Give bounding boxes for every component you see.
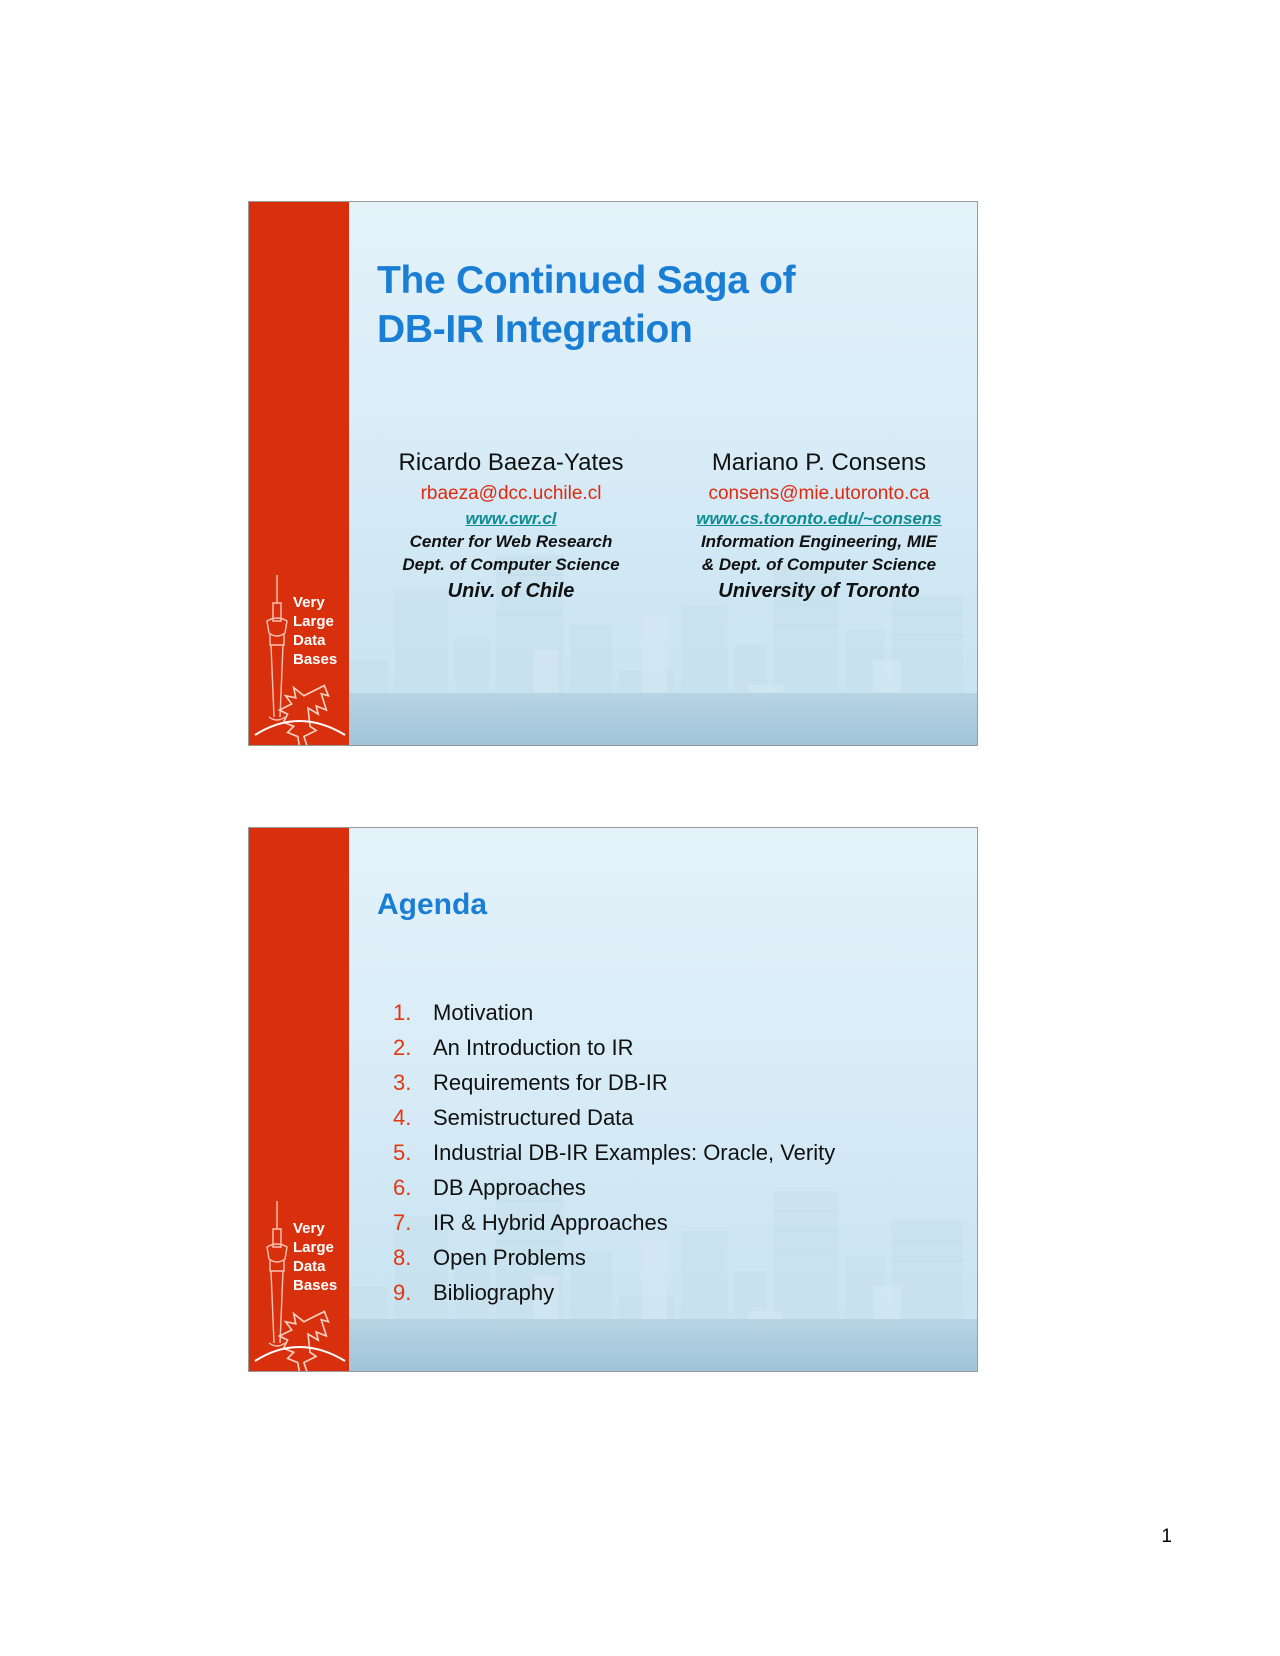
logo-line-2: Large bbox=[293, 1239, 334, 1256]
title-line-1: The Continued Saga of bbox=[377, 257, 937, 306]
vldb-logo: Very Large Data Bases bbox=[249, 557, 349, 746]
slide-agenda: Very Large Data Bases Agenda 1. Motivati… bbox=[248, 827, 978, 1372]
list-item-label: Motivation bbox=[433, 1000, 533, 1026]
list-item[interactable]: 2. An Introduction to IR bbox=[393, 1035, 835, 1061]
list-item-label: Open Problems bbox=[433, 1245, 586, 1271]
logo-line-1: Very bbox=[293, 594, 325, 611]
slide-title: Very Large Data Bases The Continued Saga… bbox=[248, 201, 978, 746]
title-line-2: DB-IR Integration bbox=[377, 306, 937, 355]
list-item[interactable]: 7. IR & Hybrid Approaches bbox=[393, 1210, 835, 1236]
list-item-label: Industrial DB-IR Examples: Oracle, Verit… bbox=[433, 1140, 835, 1166]
list-item-label: IR & Hybrid Approaches bbox=[433, 1210, 668, 1236]
list-item[interactable]: 1. Motivation bbox=[393, 1000, 835, 1026]
author-affiliation-3: University of Toronto bbox=[667, 578, 971, 604]
list-item[interactable]: 8. Open Problems bbox=[393, 1245, 835, 1271]
logo-line-4: Bases bbox=[293, 1277, 337, 1294]
list-item-label: Bibliography bbox=[433, 1280, 554, 1306]
slide-content: The Continued Saga of DB-IR Integration … bbox=[349, 202, 977, 745]
authors-block: Ricardo Baeza-Yates rbaeza@dcc.uchile.cl… bbox=[359, 449, 971, 604]
list-item-number: 8. bbox=[393, 1245, 433, 1271]
list-item[interactable]: 4. Semistructured Data bbox=[393, 1105, 835, 1131]
list-item-label: An Introduction to IR bbox=[433, 1035, 634, 1061]
list-item-label: DB Approaches bbox=[433, 1175, 586, 1201]
author-affiliation-1: Center for Web Research bbox=[359, 531, 663, 553]
list-item-number: 9. bbox=[393, 1280, 433, 1306]
list-item-number: 3. bbox=[393, 1070, 433, 1096]
list-item-number: 6. bbox=[393, 1175, 433, 1201]
author-column-left: Ricardo Baeza-Yates rbaeza@dcc.uchile.cl… bbox=[359, 449, 667, 604]
author-name: Ricardo Baeza-Yates bbox=[359, 449, 663, 477]
page-number: 1 bbox=[1161, 1526, 1172, 1548]
agenda-heading: Agenda bbox=[377, 888, 487, 922]
list-item[interactable]: 5. Industrial DB-IR Examples: Oracle, Ve… bbox=[393, 1140, 835, 1166]
author-name: Mariano P. Consens bbox=[667, 449, 971, 477]
author-website-link[interactable]: www.cs.toronto.edu/~consens bbox=[667, 508, 971, 531]
list-item[interactable]: 9. Bibliography bbox=[393, 1280, 835, 1306]
logo-line-4: Bases bbox=[293, 651, 337, 668]
list-item-label: Semistructured Data bbox=[433, 1105, 634, 1131]
vldb-logo: Very Large Data Bases bbox=[249, 1183, 349, 1372]
list-item-number: 4. bbox=[393, 1105, 433, 1131]
list-item[interactable]: 3. Requirements for DB-IR bbox=[393, 1070, 835, 1096]
list-item-number: 2. bbox=[393, 1035, 433, 1061]
logo-line-1: Very bbox=[293, 1220, 325, 1237]
slide-content: Agenda 1. Motivation 2. An Introduction … bbox=[349, 828, 977, 1371]
logo-line-3: Data bbox=[293, 632, 326, 649]
list-item-number: 1. bbox=[393, 1000, 433, 1026]
logo-line-2: Large bbox=[293, 613, 334, 630]
agenda-list: 1. Motivation 2. An Introduction to IR 3… bbox=[393, 1000, 835, 1315]
author-email[interactable]: consens@mie.utoronto.ca bbox=[667, 481, 971, 507]
list-item-number: 7. bbox=[393, 1210, 433, 1236]
author-affiliation-2: Dept. of Computer Science bbox=[359, 554, 663, 576]
author-column-right: Mariano P. Consens consens@mie.utoronto.… bbox=[667, 449, 971, 604]
author-website-link[interactable]: www.cwr.cl bbox=[359, 508, 663, 531]
list-item-number: 5. bbox=[393, 1140, 433, 1166]
logo-line-3: Data bbox=[293, 1258, 326, 1275]
document-page: Very Large Data Bases The Continued Saga… bbox=[0, 0, 1280, 1656]
list-item[interactable]: 6. DB Approaches bbox=[393, 1175, 835, 1201]
author-affiliation-2: & Dept. of Computer Science bbox=[667, 554, 971, 576]
page-title: The Continued Saga of DB-IR Integration bbox=[377, 257, 937, 355]
author-affiliation-1: Information Engineering, MIE bbox=[667, 531, 971, 553]
list-item-label: Requirements for DB-IR bbox=[433, 1070, 668, 1096]
author-email[interactable]: rbaeza@dcc.uchile.cl bbox=[359, 481, 663, 507]
author-affiliation-3: Univ. of Chile bbox=[359, 578, 663, 604]
